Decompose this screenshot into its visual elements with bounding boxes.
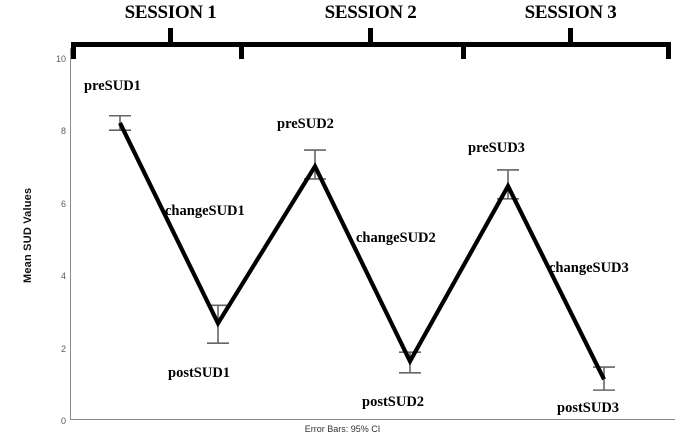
label-preSUD2: preSUD2 [277,116,334,133]
label-postSUD2: postSUD2 [362,394,424,411]
chart-plot-area [0,0,685,440]
chart-figure: SESSION 1 SESSION 2 SESSION 3 10 8 6 4 2… [0,0,685,440]
label-preSUD3: preSUD3 [468,140,525,157]
label-changeSUD1: changeSUD1 [165,203,245,220]
error-bar-preSUD1 [109,116,131,130]
label-changeSUD3: changeSUD3 [549,260,629,277]
label-changeSUD2: changeSUD2 [356,230,436,247]
label-postSUD1: postSUD1 [168,365,230,382]
label-preSUD1: preSUD1 [84,78,141,95]
sud-trend-line [120,123,604,379]
label-postSUD3: postSUD3 [557,400,619,417]
error-bar-note: Error Bars: 95% CI [0,424,685,434]
